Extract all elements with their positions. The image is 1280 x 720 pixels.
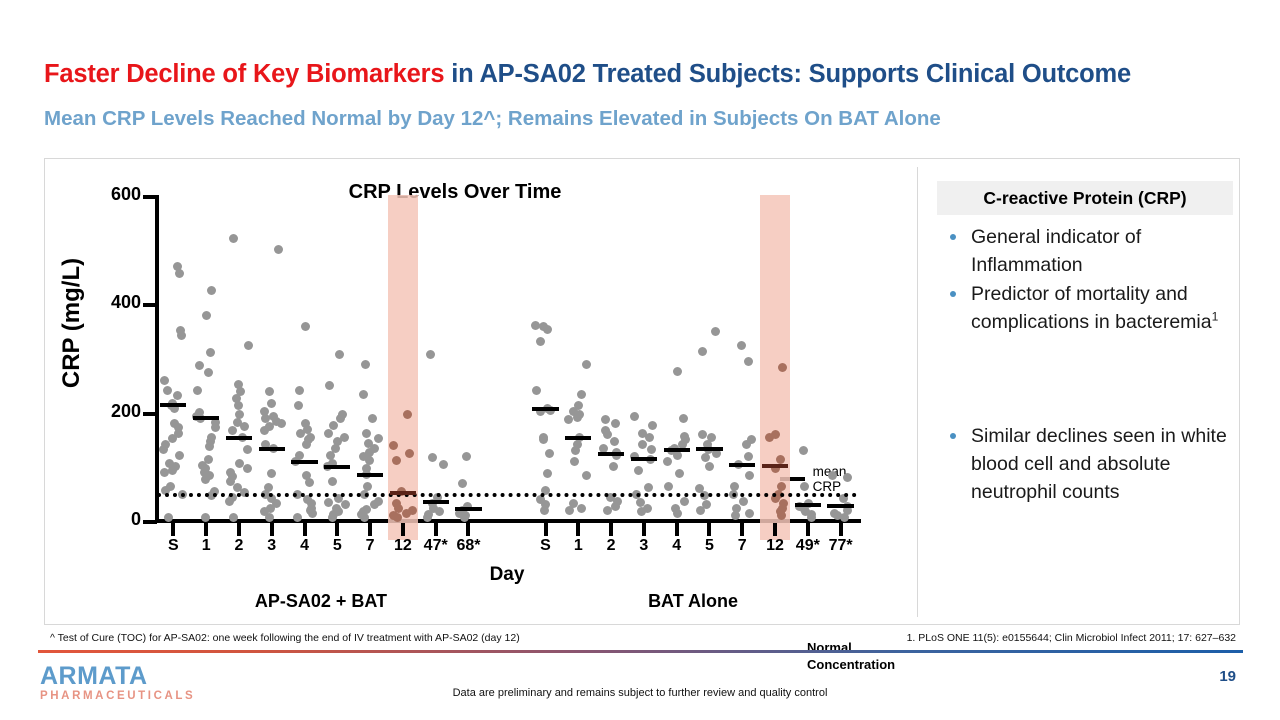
mean-crp-bar xyxy=(455,507,481,511)
scatter-point xyxy=(361,360,370,369)
mean-crp-bar xyxy=(565,436,591,440)
scatter-point xyxy=(664,482,673,491)
scatter-point xyxy=(360,513,369,522)
mean-crp-bar xyxy=(532,407,558,411)
normal-concentration-reference-line xyxy=(157,493,857,497)
scatter-point xyxy=(744,452,753,461)
scatter-point xyxy=(392,456,401,465)
mean-crp-bar xyxy=(324,465,350,469)
scatter-point xyxy=(745,471,754,480)
mean-crp-bar xyxy=(226,436,252,440)
x-axis-tick xyxy=(839,523,843,536)
mean-crp-bar xyxy=(193,416,219,420)
scatter-point xyxy=(206,348,215,357)
slide-root: Faster Decline of Key Biomarkers in AP-S… xyxy=(0,0,1280,720)
scatter-point xyxy=(160,376,169,385)
scatter-point xyxy=(540,506,549,515)
mean-crp-bar xyxy=(827,504,853,508)
x-axis-tick xyxy=(675,523,679,536)
scatter-point xyxy=(647,445,656,454)
scatter-point xyxy=(294,401,303,410)
scatter-point xyxy=(261,414,270,423)
scatter-point xyxy=(807,513,816,522)
mean-crp-bar xyxy=(729,463,755,467)
scatter-point xyxy=(673,367,682,376)
scatter-point xyxy=(731,511,740,520)
scatter-point xyxy=(582,471,591,480)
bullet-item: Predictor of mortality and complications… xyxy=(941,280,1241,336)
scatter-point xyxy=(201,475,210,484)
scatter-point xyxy=(225,497,234,506)
divider-rule xyxy=(38,650,1243,653)
scatter-point xyxy=(389,441,398,450)
scatter-point xyxy=(696,506,705,515)
x-axis-tick xyxy=(707,523,711,536)
y-axis-tick-label: 600 xyxy=(95,184,141,205)
y-axis-tick xyxy=(143,520,157,524)
scatter-point xyxy=(840,513,849,522)
scatter-point xyxy=(644,483,653,492)
x-axis-tick-label: 49* xyxy=(796,537,820,555)
x-axis-tick-label: 1 xyxy=(202,537,211,555)
scatter-point xyxy=(293,513,302,522)
x-axis-tick-label: 5 xyxy=(333,537,342,555)
x-axis-tick-label: S xyxy=(168,537,179,555)
footer-disclaimer: Data are preliminary and remains subject… xyxy=(0,687,1280,699)
side-bullets-top: General indicator of InflammationPredict… xyxy=(941,223,1241,337)
mean-crp-bar xyxy=(259,447,285,451)
x-axis-tick xyxy=(806,523,810,536)
scatter-point xyxy=(843,473,852,482)
scatter-point xyxy=(305,478,314,487)
scatter-point xyxy=(611,502,620,511)
scatter-point xyxy=(202,311,211,320)
scatter-point xyxy=(673,451,682,460)
scatter-point xyxy=(265,513,274,522)
scatter-point xyxy=(175,451,184,460)
scatter-point xyxy=(244,341,253,350)
scatter-point xyxy=(536,337,545,346)
scatter-point xyxy=(638,440,647,449)
x-axis-tick-label: 12 xyxy=(394,537,412,555)
scatter-point xyxy=(302,440,311,449)
scatter-point xyxy=(460,513,469,522)
scatter-point xyxy=(362,429,371,438)
scatter-point xyxy=(610,437,619,446)
scatter-point xyxy=(359,390,368,399)
scatter-point xyxy=(532,386,541,395)
x-axis-tick-label: 77* xyxy=(829,537,853,555)
x-axis-tick-label: S xyxy=(540,537,551,555)
crp-scatter-chart: CRP Levels Over Time CRP (mg/L) mean CRP… xyxy=(45,159,875,625)
x-axis-tick-label: 3 xyxy=(639,537,648,555)
scatter-point xyxy=(634,466,643,475)
scatter-point xyxy=(577,390,586,399)
side-column: C-reactive Protein (CRP) General indicat… xyxy=(929,159,1239,625)
scatter-point xyxy=(164,513,173,522)
scatter-point xyxy=(325,381,334,390)
scatter-point xyxy=(201,513,210,522)
mean-crp-bar xyxy=(762,464,788,468)
scatter-point xyxy=(295,386,304,395)
scatter-point xyxy=(737,341,746,350)
x-axis-tick xyxy=(237,523,241,536)
scatter-point xyxy=(778,363,787,372)
scatter-point xyxy=(458,479,467,488)
x-axis-tick xyxy=(171,523,175,536)
x-axis-tick xyxy=(642,523,646,536)
normal-concentration-label: Normal Concentration xyxy=(807,639,895,674)
legend-mean-crp: mean CRP xyxy=(780,464,875,494)
scatter-point xyxy=(175,269,184,278)
scatter-point xyxy=(243,464,252,473)
page-number: 19 xyxy=(1219,668,1236,685)
mean-crp-bar xyxy=(160,403,186,407)
scatter-point xyxy=(680,497,689,506)
x-axis-tick xyxy=(773,523,777,536)
side-header-title: C-reactive Protein (CRP) xyxy=(937,181,1233,215)
scatter-point xyxy=(336,414,345,423)
y-axis-tick-label: 400 xyxy=(95,292,141,313)
content-panel: CRP Levels Over Time CRP (mg/L) mean CRP… xyxy=(44,158,1240,625)
scatter-point xyxy=(603,506,612,515)
x-axis-tick xyxy=(401,523,405,536)
x-axis-tick xyxy=(204,523,208,536)
scatter-point xyxy=(570,457,579,466)
footnote-right: 1. PLoS ONE 11(5): e0155644; Clin Microb… xyxy=(907,632,1236,644)
scatter-point xyxy=(462,452,471,461)
chart-group-label: BAT Alone xyxy=(648,591,738,612)
y-axis-tick-label: 200 xyxy=(95,401,141,422)
mean-crp-bar xyxy=(696,447,722,451)
scatter-point xyxy=(611,419,620,428)
scatter-point xyxy=(582,360,591,369)
scatter-point xyxy=(573,413,582,422)
x-axis-tick xyxy=(740,523,744,536)
scatter-point xyxy=(800,482,809,491)
y-axis-tick-label: 0 xyxy=(95,509,141,530)
scatter-point xyxy=(543,325,552,334)
mean-crp-bar xyxy=(631,457,657,461)
x-axis-tick-label: 3 xyxy=(267,537,276,555)
x-axis-tick-label: 2 xyxy=(235,537,244,555)
normal-concentration-line1: Normal xyxy=(807,639,895,657)
y-axis-tick xyxy=(143,303,157,307)
scatter-point xyxy=(163,386,172,395)
x-axis-tick xyxy=(303,523,307,536)
scatter-point xyxy=(630,412,639,421)
x-axis-tick xyxy=(368,523,372,536)
scatter-point xyxy=(234,401,243,410)
side-bullets-bottom: Similar declines seen in white blood cel… xyxy=(941,422,1241,507)
x-axis-tick xyxy=(609,523,613,536)
scatter-point xyxy=(577,504,586,513)
scatter-point xyxy=(328,513,337,522)
chart-group-label: AP-SA02 + BAT xyxy=(255,591,387,612)
mean-crp-bar xyxy=(423,500,449,504)
scatter-point xyxy=(328,477,337,486)
x-axis-tick-label: 68* xyxy=(456,537,480,555)
panel-divider xyxy=(917,167,918,617)
scatter-point xyxy=(274,245,283,254)
scatter-point xyxy=(711,327,720,336)
logo-wordmark: ARMATA xyxy=(40,664,215,689)
mean-crp-bar xyxy=(598,452,624,456)
bullet-item: General indicator of Inflammation xyxy=(941,223,1241,279)
x-axis-tick xyxy=(544,523,548,536)
scatter-point xyxy=(301,322,310,331)
scatter-point xyxy=(679,414,688,423)
scatter-point xyxy=(265,387,274,396)
scatter-point xyxy=(267,399,276,408)
scatter-point xyxy=(698,430,707,439)
x-axis-tick xyxy=(466,523,470,536)
scatter-point xyxy=(799,446,808,455)
x-axis-tick xyxy=(434,523,438,536)
scatter-point xyxy=(673,509,682,518)
scatter-point xyxy=(744,357,753,366)
y-axis-tick xyxy=(143,412,157,416)
scatter-point xyxy=(698,347,707,356)
chart-y-axis-label: CRP (mg/L) xyxy=(58,208,86,438)
scatter-point xyxy=(423,513,432,522)
page-subtitle: Mean CRP Levels Reached Normal by Day 12… xyxy=(44,107,1254,131)
x-axis-tick xyxy=(335,523,339,536)
x-axis-tick-label: 7 xyxy=(366,537,375,555)
scatter-point xyxy=(739,497,748,506)
normal-concentration-line2: Concentration xyxy=(807,656,895,674)
x-axis-tick-label: 7 xyxy=(738,537,747,555)
mean-crp-bar xyxy=(390,491,416,495)
mean-crp-bar xyxy=(664,448,690,452)
footnote-marker: 1 xyxy=(1212,310,1219,324)
scatter-point xyxy=(229,234,238,243)
page-title-rest: in AP-SA02 Treated Subjects: Supports Cl… xyxy=(444,60,1131,88)
page-title-emphasis: Faster Decline of Key Biomarkers xyxy=(44,60,444,88)
mean-crp-bar xyxy=(291,460,317,464)
scatter-point xyxy=(776,455,785,464)
bullet-item: Similar declines seen in white blood cel… xyxy=(941,422,1241,506)
x-axis-tick-label: 4 xyxy=(300,537,309,555)
x-axis-tick-label: 1 xyxy=(574,537,583,555)
mean-crp-bar xyxy=(357,473,383,477)
mean-crp-bar xyxy=(795,503,821,507)
scatter-point xyxy=(745,509,754,518)
x-axis-tick-label: 47* xyxy=(424,537,448,555)
scatter-point xyxy=(663,457,672,466)
x-axis-tick xyxy=(576,523,580,536)
scatter-point xyxy=(277,419,286,428)
scatter-point xyxy=(229,513,238,522)
x-axis-tick xyxy=(270,523,274,536)
page-title: Faster Decline of Key Biomarkers in AP-S… xyxy=(44,60,1254,89)
scatter-point xyxy=(308,509,317,518)
x-axis-tick-label: 2 xyxy=(607,537,616,555)
x-axis-tick-label: 12 xyxy=(766,537,784,555)
y-axis-tick xyxy=(143,195,157,199)
x-axis-tick-label: 5 xyxy=(705,537,714,555)
scatter-point xyxy=(565,506,574,515)
scatter-point xyxy=(193,386,202,395)
x-axis-tick-label: 4 xyxy=(672,537,681,555)
chart-x-axis-label: Day xyxy=(490,564,525,586)
footnote-left: ^ Test of Cure (TOC) for AP-SA02: one we… xyxy=(50,632,520,644)
